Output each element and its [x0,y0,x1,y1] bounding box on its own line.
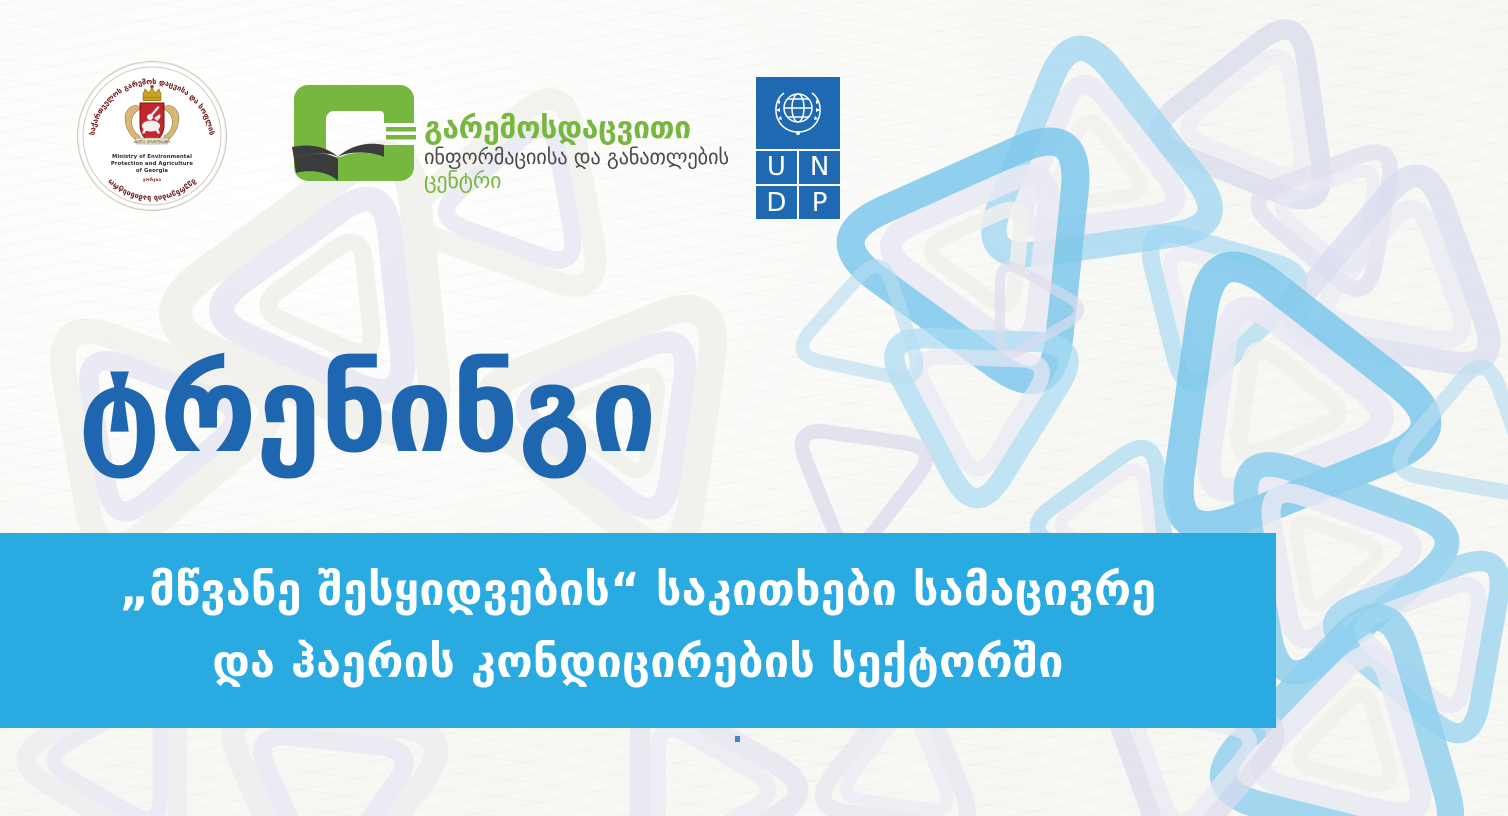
ministry-seal-logo: საქართველოს გარემოს დაცვისა და სოფლის მე… [77,61,227,211]
poster-canvas: საქართველოს გარემოს დაცვისა და სოფლის მე… [0,0,1508,816]
subtitle-text: „მწვანე შესყიდვების“ საკითხები სამაცივრე… [0,554,1276,698]
seal-caption-line2: Protection and Agriculture [111,161,193,167]
eiec-line-2: ინფორმაციისა და განათლების [424,145,724,169]
logo-row: საქართველოს გარემოს დაცვისა და სოფლის მე… [0,0,1508,240]
seal-caption-georgian: ჯორჯია [104,177,200,184]
subtitle-line-1: „მწვანე შესყიდვების“ საკითხები სამაცივრე [120,563,1157,616]
eiec-line-3: ცენტრი [424,169,724,194]
seal-caption-line1: Ministry of Environmental [112,154,192,160]
svg-text:ᲫᲐᲚᲐ ᲔᲠᲗᲝᲑᲐᲨᲘ: ᲫᲐᲚᲐ ᲔᲠᲗᲝᲑᲐᲨᲘ [134,139,171,144]
seal-caption-line3: of Georgia [136,168,168,174]
eiec-logo: გარემოსდაცვითი ინფორმაციისა და განათლები… [288,77,718,202]
georgia-coat-of-arms-icon: ᲫᲐᲚᲐ ᲔᲠᲗᲝᲑᲐᲨᲘ [109,85,195,151]
page-title: ტრენინგი [78,351,656,469]
eiec-mark-icon [288,77,420,195]
un-globe-laurel-icon [756,77,840,149]
stray-pixel-artifact [735,736,740,742]
undp-letter-p: P [799,186,840,219]
seal-caption: Ministry of Environmental Protection and… [78,154,226,184]
subtitle-line-2: და ჰაერის კონდიცირების სექტორში [0,626,1276,698]
undp-logo: U N D P [756,77,840,219]
undp-letter-grid: U N D P [756,149,840,219]
eiec-wordmark: გარემოსდაცვითი ინფორმაციისა და განათლები… [424,113,724,194]
undp-letter-n: N [799,151,840,184]
subtitle-banner: „მწვანე შესყიდვების“ საკითხები სამაცივრე… [0,533,1276,728]
undp-letter-d: D [756,186,797,219]
eiec-line-1: გარემოსდაცვითი [424,113,724,145]
undp-letter-u: U [756,151,797,184]
